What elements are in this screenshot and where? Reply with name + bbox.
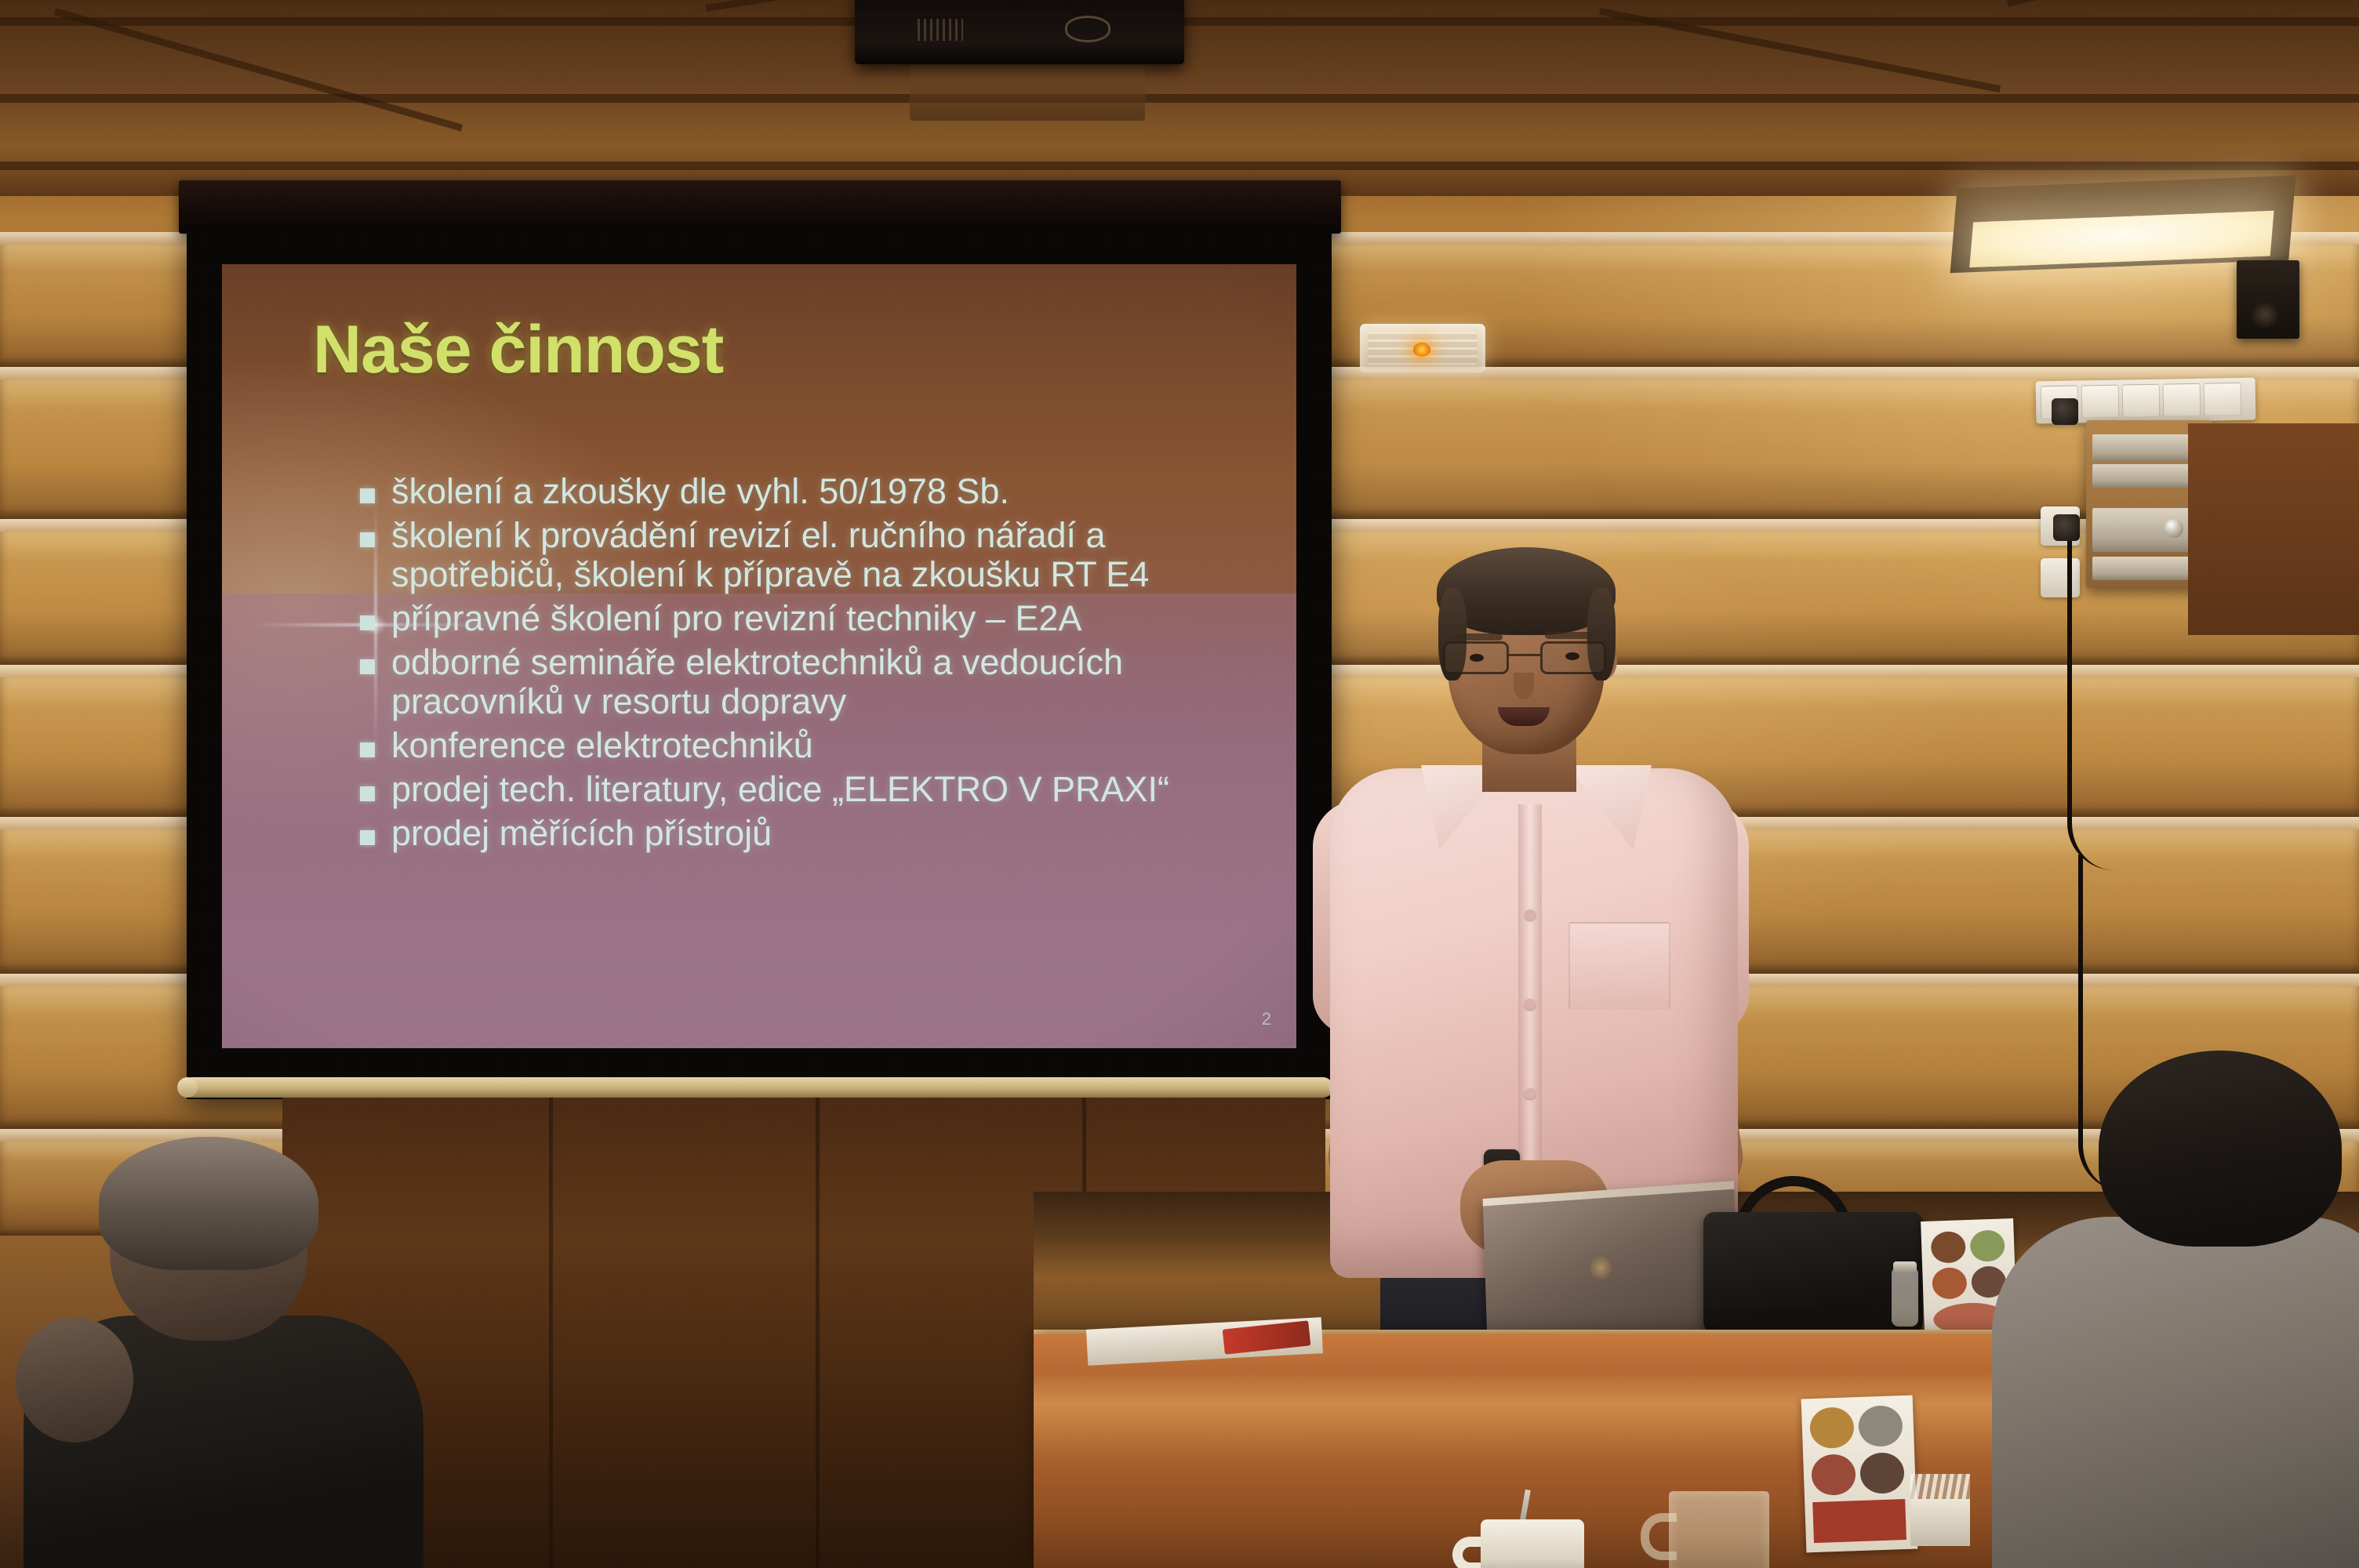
audience-left-second-head <box>16 1317 133 1443</box>
list-item: prodej měřících přístrojů <box>360 814 1263 853</box>
shirt-button <box>1525 909 1536 920</box>
bullet-square-icon <box>360 488 375 503</box>
screen-bottom-weight-bar[interactable] <box>182 1077 1333 1098</box>
presentation-room-photo: Naše činnost školení a zkoušky dle vyhl.… <box>0 0 2359 1568</box>
list-item: přípravné školení pro revizní techniky –… <box>360 599 1263 638</box>
bullet-square-icon <box>360 830 375 845</box>
hp-logo-icon <box>1589 1256 1612 1280</box>
presenter-brow-left <box>1454 633 1503 641</box>
emergency-light <box>1360 324 1485 372</box>
projection-screen-surface: Naše činnost školení a zkoušky dle vyhl.… <box>222 264 1296 1048</box>
audience-right-hair <box>2099 1051 2342 1247</box>
status-led-indicator <box>1413 343 1430 357</box>
light-panel <box>1969 211 2274 268</box>
bullet-square-icon <box>360 742 375 757</box>
power-plug-black <box>2053 514 2080 541</box>
wall-cabinet <box>2188 423 2359 635</box>
bullet-text: konference elektrotechniků <box>391 726 1263 765</box>
condiment-shaker-left[interactable] <box>1892 1269 1918 1327</box>
list-item: konference elektrotechniků <box>360 726 1263 765</box>
panel-seam <box>816 1098 820 1568</box>
projector-vent-icon <box>918 19 963 41</box>
list-item: školení a zkoušky dle vyhl. 50/1978 Sb. <box>360 472 1263 511</box>
power-plug <box>2052 398 2078 425</box>
ceiling-projector <box>855 0 1184 64</box>
bullet-square-icon <box>360 532 375 547</box>
bullet-text: školení a zkoušky dle vyhl. 50/1978 Sb. <box>391 472 1263 511</box>
bullet-text: prodej měřících přístrojů <box>391 814 1263 853</box>
slide-title: Naše činnost <box>313 311 723 389</box>
projection-screen-housing <box>179 180 1341 234</box>
presenter-brow-right <box>1545 632 1594 639</box>
projector-mount-bracket <box>910 66 1145 121</box>
panel-seam <box>549 1098 553 1568</box>
presenter-eye-right <box>1565 652 1579 660</box>
shaker-cap <box>1893 1261 1917 1272</box>
list-item: školení k provádění revizí el. ručního n… <box>360 516 1263 594</box>
bullet-square-icon <box>360 659 375 674</box>
coffee-mug[interactable] <box>1481 1519 1584 1568</box>
bullet-square-icon <box>360 786 375 801</box>
volume-knob[interactable] <box>2165 519 2183 538</box>
promotional-flyer[interactable] <box>1801 1396 1918 1553</box>
bullet-text: přípravné školení pro revizní techniky –… <box>391 599 1263 638</box>
hp-laptop[interactable] <box>1483 1181 1740 1347</box>
audience-member-right <box>2008 1051 2359 1568</box>
bullet-text: odborné semináře elektrotechniků a vedou… <box>391 643 1263 721</box>
shirt-button <box>1525 999 1536 1010</box>
glasses-bridge <box>1509 654 1540 656</box>
bullet-text: školení k provádění revizí el. ručního n… <box>391 516 1263 594</box>
presenter-glasses <box>1443 641 1606 674</box>
projection-screen: Naše činnost školení a zkoušky dle vyhl.… <box>187 229 1332 1099</box>
bullet-text: prodej tech. literatury, edice „ELEKTRO … <box>391 770 1263 809</box>
power-cable <box>2067 541 2169 870</box>
glass-beer-mug[interactable] <box>1669 1491 1769 1568</box>
shirt-breast-pocket <box>1568 922 1670 1010</box>
projector-lens-icon <box>1065 16 1110 42</box>
shirt-button <box>1525 1088 1536 1099</box>
audience-member-left <box>47 1137 392 1568</box>
ceiling-light-fixture <box>1950 176 2296 273</box>
wall-speaker <box>2237 260 2299 339</box>
list-item: prodej tech. literatury, edice „ELEKTRO … <box>360 770 1263 809</box>
powerpoint-slide: Naše činnost školení a zkoušky dle vyhl.… <box>222 264 1296 1048</box>
presenter-nose <box>1514 673 1534 699</box>
speaker-cone-icon <box>2249 301 2281 328</box>
screen-weight-knob-left <box>177 1077 198 1098</box>
audience-left-hair <box>99 1137 318 1270</box>
audience-right-torso <box>1992 1217 2359 1568</box>
presenter-eye-left <box>1470 654 1484 662</box>
napkin-holder[interactable] <box>1910 1499 1970 1546</box>
bullet-square-icon <box>360 615 375 630</box>
list-item: odborné semináře elektrotechniků a vedou… <box>360 643 1263 721</box>
shoulder-bag[interactable] <box>1703 1212 1923 1339</box>
slide-bullet-list: školení a zkoušky dle vyhl. 50/1978 Sb. … <box>360 472 1263 857</box>
